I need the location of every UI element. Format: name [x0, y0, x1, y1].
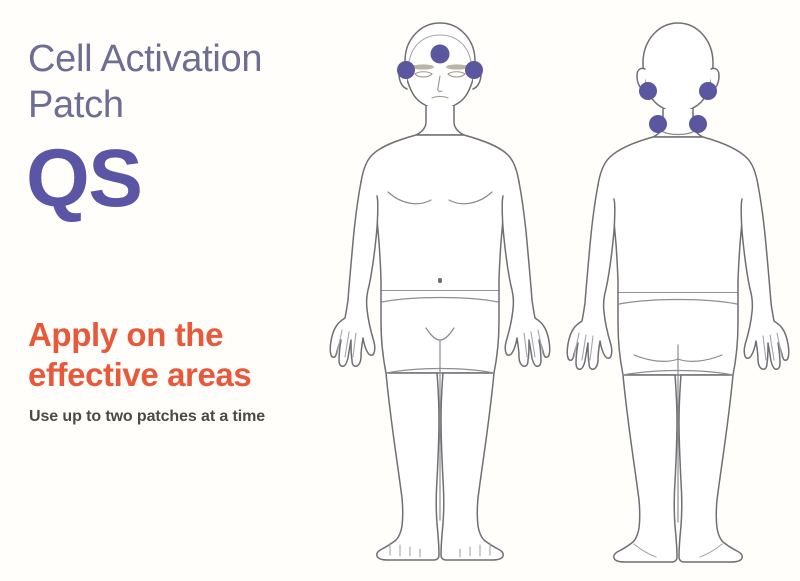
headline: Apply on the effective areas — [28, 315, 328, 396]
text-panel: Cell Activation Patch QS Apply on the ef… — [0, 0, 330, 581]
front-left-arm — [330, 182, 378, 366]
patch-dot-front-right-temple[interactable] — [465, 61, 483, 79]
back-right-leg — [679, 375, 742, 562]
front-right-leg — [441, 373, 503, 560]
patch-dot-front-forehead[interactable] — [431, 45, 450, 64]
headline-line-1: Apply on the — [28, 315, 328, 355]
front-right-arm — [502, 182, 550, 366]
patch-dot-front-left-temple[interactable] — [397, 61, 415, 79]
poster-canvas: Cell Activation Patch QS Apply on the ef… — [0, 0, 800, 581]
back-left-arm — [567, 185, 615, 369]
front-torso — [361, 135, 519, 291]
patch-dot-back-right-neck-base[interactable] — [689, 115, 707, 133]
back-right-arm — [741, 185, 789, 369]
usage-subtext: Use up to two patches at a time — [29, 408, 359, 426]
front-navel — [438, 278, 442, 283]
body-diagram-group — [318, 10, 800, 575]
front-body-figure — [318, 10, 563, 575]
patch-dot-back-left-neck-base[interactable] — [649, 115, 667, 133]
patch-dot-back-right-behind-ear[interactable] — [699, 82, 717, 100]
headline-line-2: effective areas — [28, 355, 328, 395]
back-body-figure — [556, 10, 800, 575]
product-title-line-2: Patch — [28, 82, 328, 128]
back-torso — [598, 137, 758, 293]
back-left-leg — [614, 375, 677, 562]
brand-mark-qs: QS — [26, 138, 141, 220]
front-left-leg — [377, 373, 439, 560]
front-right-eyebrow — [446, 64, 468, 69]
back-head — [643, 23, 713, 112]
product-title: Cell Activation Patch — [28, 36, 328, 129]
patch-dot-back-left-behind-ear[interactable] — [639, 82, 657, 100]
product-title-line-1: Cell Activation — [28, 36, 328, 82]
front-left-eyebrow — [412, 64, 434, 69]
front-neck — [416, 106, 464, 135]
